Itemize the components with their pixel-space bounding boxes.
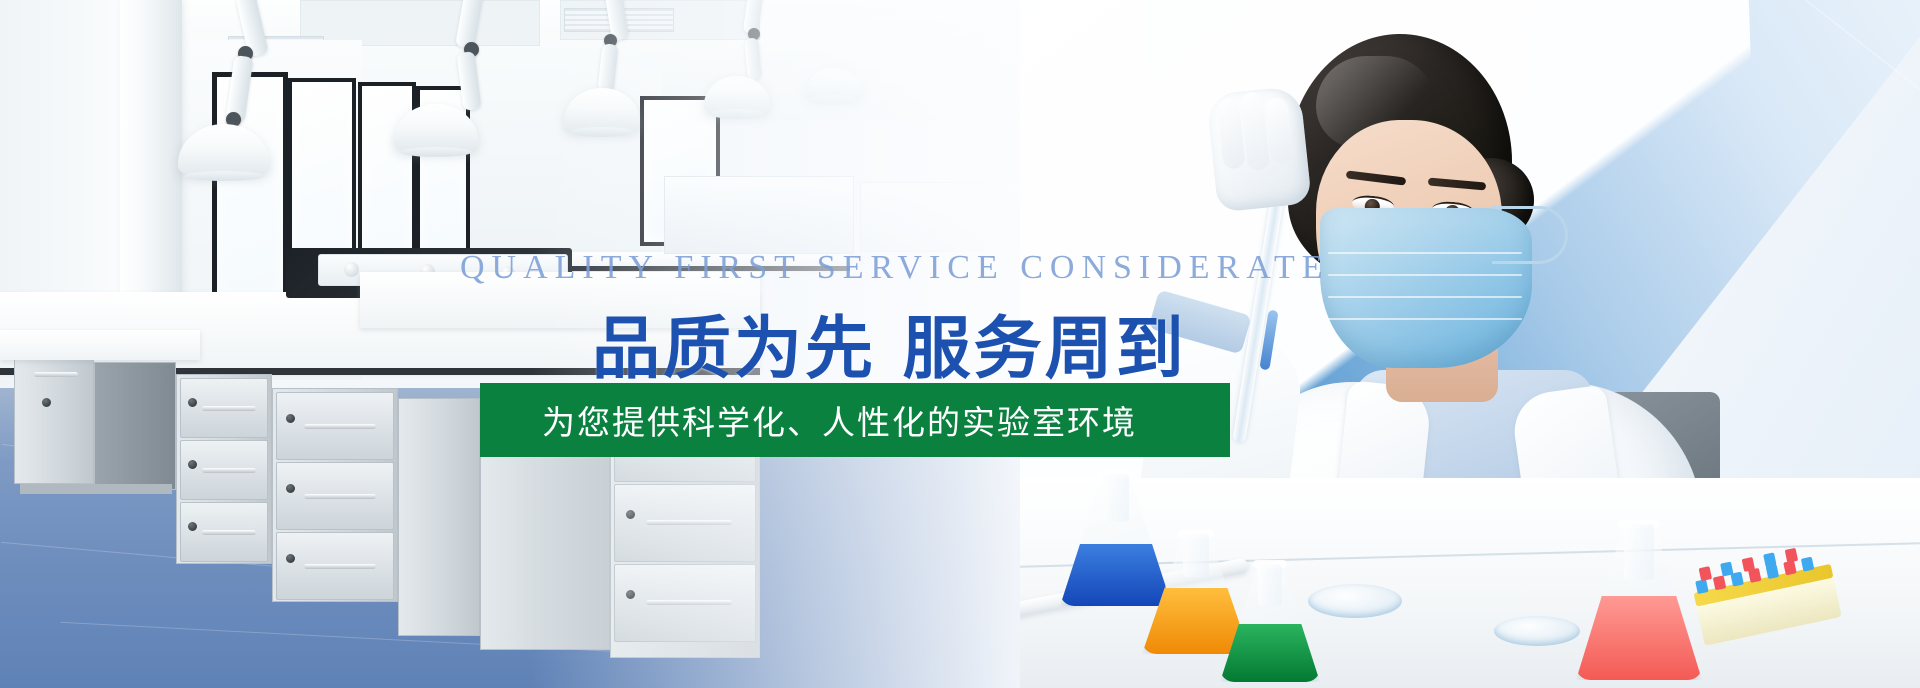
drawer-handle: [304, 424, 376, 429]
mask-pleat: [1328, 296, 1522, 298]
ceiling-panel: [300, 0, 540, 46]
drawer-lock: [286, 484, 295, 493]
drawer-lock: [188, 522, 197, 531]
drawer-cabinet: [272, 388, 398, 602]
tip: [1695, 579, 1708, 594]
tip: [1713, 575, 1726, 590]
structural-column: [120, 0, 182, 340]
drawer-cabinet: [176, 374, 272, 564]
drawer-lock: [286, 554, 295, 563]
flask-body: [1576, 524, 1702, 680]
tip: [1783, 560, 1796, 575]
headline-chinese: 品质为先 服务周到: [592, 293, 1187, 392]
drawer-lock: [626, 510, 635, 519]
drawer: [180, 378, 268, 438]
drawer: [180, 440, 268, 500]
window: [212, 72, 288, 302]
drawer: [180, 502, 268, 562]
floor-seam: [2, 444, 558, 513]
drawer-handle: [202, 468, 256, 473]
mask-pleat: [1328, 318, 1522, 320]
extraction-hood: [704, 76, 770, 114]
petri-dish: [1308, 584, 1402, 618]
cabinet-recess: [94, 362, 176, 490]
drawer-handle: [202, 530, 256, 535]
cabinet-lock: [42, 398, 51, 407]
drawer-lock: [188, 398, 197, 407]
window: [358, 82, 416, 282]
drawer: [276, 532, 394, 600]
mask-pleat: [1328, 274, 1522, 276]
tip: [1763, 552, 1776, 567]
drawer-lock: [286, 414, 295, 423]
drawer-handle: [304, 494, 376, 499]
service-knob: [344, 262, 359, 277]
extraction-hood: [806, 68, 862, 100]
drawer: [276, 462, 394, 530]
subtitle-bar: 为您提供科学化、人性化的实验室环境: [480, 383, 1230, 457]
panel-cabinet: [398, 398, 480, 636]
ceiling-panel: [560, 0, 760, 40]
drawer: [614, 564, 756, 642]
cabinet-toe-kick: [20, 484, 172, 494]
drawer-handle: [304, 564, 376, 569]
side-wall: [182, 40, 362, 380]
finger: [1265, 97, 1294, 165]
tagline-english: QUALITY FIRST SERVICE CONSIDERATE: [460, 249, 1330, 287]
tip: [1785, 548, 1798, 563]
flask-liquid: [1576, 596, 1702, 680]
petri-dish: [1494, 616, 1580, 646]
mask-ear-loop: [1492, 206, 1568, 264]
mobile-cabinet: [14, 358, 94, 484]
floor-seam: [1, 542, 599, 595]
fume-extraction-arm: [420, 0, 540, 150]
extraction-hood: [178, 124, 270, 176]
tip: [1801, 557, 1814, 572]
tip: [1720, 562, 1733, 577]
extraction-hood: [564, 88, 640, 132]
window: [640, 96, 720, 246]
tip: [1742, 557, 1755, 572]
cabinet-handle: [34, 372, 78, 377]
flask-green: [1220, 564, 1320, 682]
extraction-hood: [394, 104, 478, 152]
drawer-lock: [626, 590, 635, 599]
ceiling-vent: [228, 36, 324, 58]
drawer-handle: [646, 520, 732, 525]
service-shelf: [664, 176, 854, 254]
fume-extraction-arm: [196, 0, 316, 160]
drawer-handle: [646, 600, 732, 605]
fume-extraction-arm: [572, 0, 682, 130]
subtitle-text: 为您提供科学化、人性化的实验室环境: [480, 396, 1137, 444]
promo-banner: QUALITY FIRST SERVICE CONSIDERATE 品质为先 服…: [0, 0, 1920, 688]
flask-liquid: [1220, 624, 1320, 682]
service-shelf: [860, 182, 1020, 252]
drawer-lock: [188, 460, 197, 469]
drawer: [276, 392, 394, 460]
ceiling-vent: [564, 8, 674, 32]
drawer: [614, 484, 756, 562]
flask-pink: [1576, 524, 1702, 680]
foreground-bench-top: [0, 330, 200, 360]
gloved-hand-upper: [1206, 85, 1312, 212]
service-knob: [420, 264, 435, 279]
tip: [1699, 566, 1712, 581]
fume-extraction-arm: [716, 0, 816, 120]
back-wall: [0, 0, 126, 400]
window: [416, 86, 470, 272]
floor-seam: [60, 622, 679, 655]
drawer-handle: [202, 406, 256, 411]
flask-body: [1220, 564, 1320, 682]
window: [288, 78, 356, 296]
ceiling: [0, 0, 1180, 120]
